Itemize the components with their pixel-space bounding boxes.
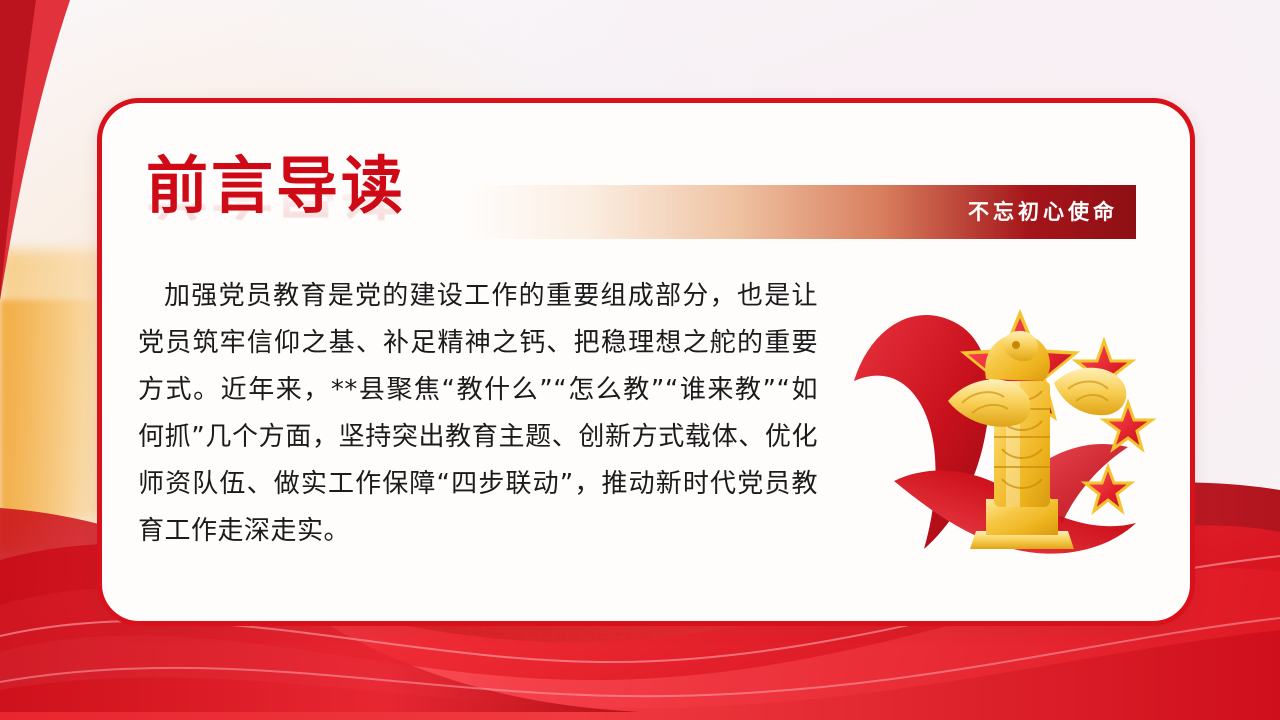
body-paragraph: 加强党员教育是党的建设工作的重要组成部分，也是让党员筑牢信仰之基、补足精神之钙、… bbox=[138, 273, 818, 555]
content-card: 不忘初心使命 前言导读 前言导读 加强党员教育是党的建设工作的重要组成部分，也是… bbox=[97, 98, 1195, 626]
page-title-reflection: 前言导读 bbox=[146, 153, 566, 223]
party-emblem-icon bbox=[836, 231, 1166, 581]
gold-fan-text: 不忘初心 牢记使命 bbox=[395, 627, 775, 652]
page-title-group: 前言导读 前言导读 bbox=[146, 151, 566, 291]
slide-root: 不忘初心 牢记使命 bbox=[0, 0, 1280, 720]
